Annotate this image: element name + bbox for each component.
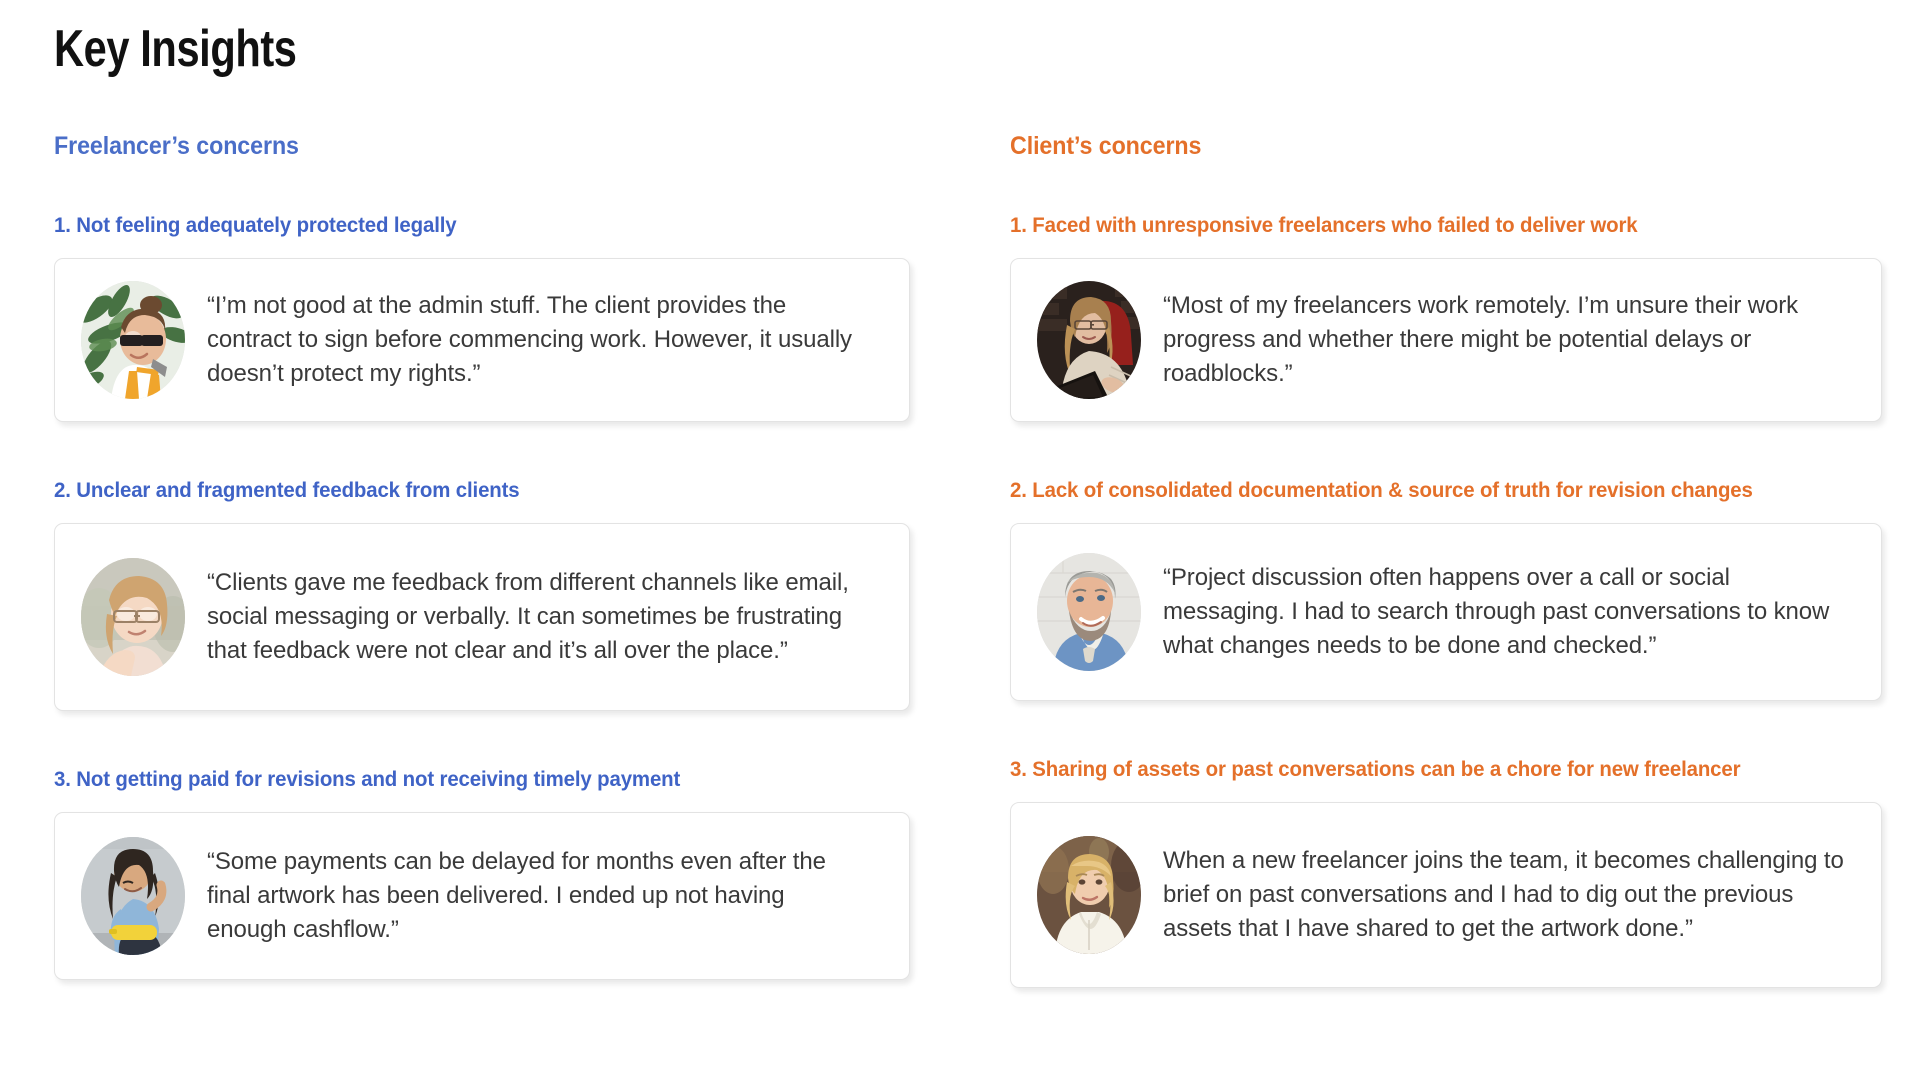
key-insights-page: Key Insights Freelancer’s concerns 1. No… [0, 0, 1920, 1075]
freelancer-insight-2-heading: 2. Unclear and fragmented feedback from … [54, 478, 905, 503]
client-quote-card-3: When a new freelancer joins the team, it… [1010, 802, 1882, 988]
freelancer-insight-3: 3. Not getting paid for revisions and no… [54, 767, 950, 980]
insights-columns: Freelancer’s concerns 1. Not feeling ade… [0, 132, 1920, 988]
freelancer-insight-1-heading: 1. Not feeling adequately protected lega… [54, 213, 905, 238]
freelancer-insight-1: 1. Not feeling adequately protected lega… [54, 213, 950, 422]
client-insight-3: 3. Sharing of assets or past conversatio… [1010, 757, 1872, 988]
client-insight-2-heading: 2. Lack of consolidated documentation & … [1010, 478, 1829, 503]
freelancer-column: Freelancer’s concerns 1. Not feeling ade… [0, 132, 1010, 980]
page-title: Key Insights [54, 22, 297, 77]
freelancer-column-title: Freelancer’s concerns [54, 132, 887, 161]
woman-with-glasses-tropical-plants-avatar [81, 281, 185, 399]
man-beard-blue-cardigan-avatar [1037, 553, 1141, 671]
client-insight-1-heading: 1. Faced with unresponsive freelancers w… [1010, 213, 1829, 238]
client-quote-3-text: When a new freelancer joins the team, it… [1163, 844, 1853, 946]
client-column: Client’s concerns 1. Faced with unrespon… [1010, 132, 1920, 988]
freelancer-quote-3-text: “Some payments can be delayed for months… [207, 845, 867, 947]
client-insight-1: 1. Faced with unresponsive freelancers w… [1010, 213, 1872, 422]
freelancer-insight-3-heading: 3. Not getting paid for revisions and no… [54, 767, 905, 792]
client-insight-3-heading: 3. Sharing of assets or past conversatio… [1010, 757, 1829, 782]
freelancer-quote-card-1: “I’m not good at the admin stuff. The cl… [54, 258, 910, 422]
person-long-hair-yellow-bag-avatar [81, 837, 185, 955]
freelancer-quote-card-3: “Some payments can be delayed for months… [54, 812, 910, 980]
woman-with-laptop-dark-room-avatar [1037, 281, 1141, 399]
freelancer-quote-1-text: “I’m not good at the admin stuff. The cl… [207, 289, 867, 391]
client-quote-1-text: “Most of my freelancers work remotely. I… [1163, 289, 1853, 391]
blonde-woman-white-shirt-avatar [1037, 836, 1141, 954]
client-column-title: Client’s concerns [1010, 132, 1812, 161]
freelancer-insight-2: 2. Unclear and fragmented feedback from … [54, 478, 950, 711]
woman-resting-chin-glasses-avatar [81, 558, 185, 676]
client-quote-card-2: “Project discussion often happens over a… [1010, 523, 1882, 701]
client-insight-2: 2. Lack of consolidated documentation & … [1010, 478, 1872, 701]
client-quote-card-1: “Most of my freelancers work remotely. I… [1010, 258, 1882, 422]
freelancer-quote-card-2: “Clients gave me feedback from different… [54, 523, 910, 711]
client-quote-2-text: “Project discussion often happens over a… [1163, 561, 1853, 663]
freelancer-quote-2-text: “Clients gave me feedback from different… [207, 566, 867, 668]
